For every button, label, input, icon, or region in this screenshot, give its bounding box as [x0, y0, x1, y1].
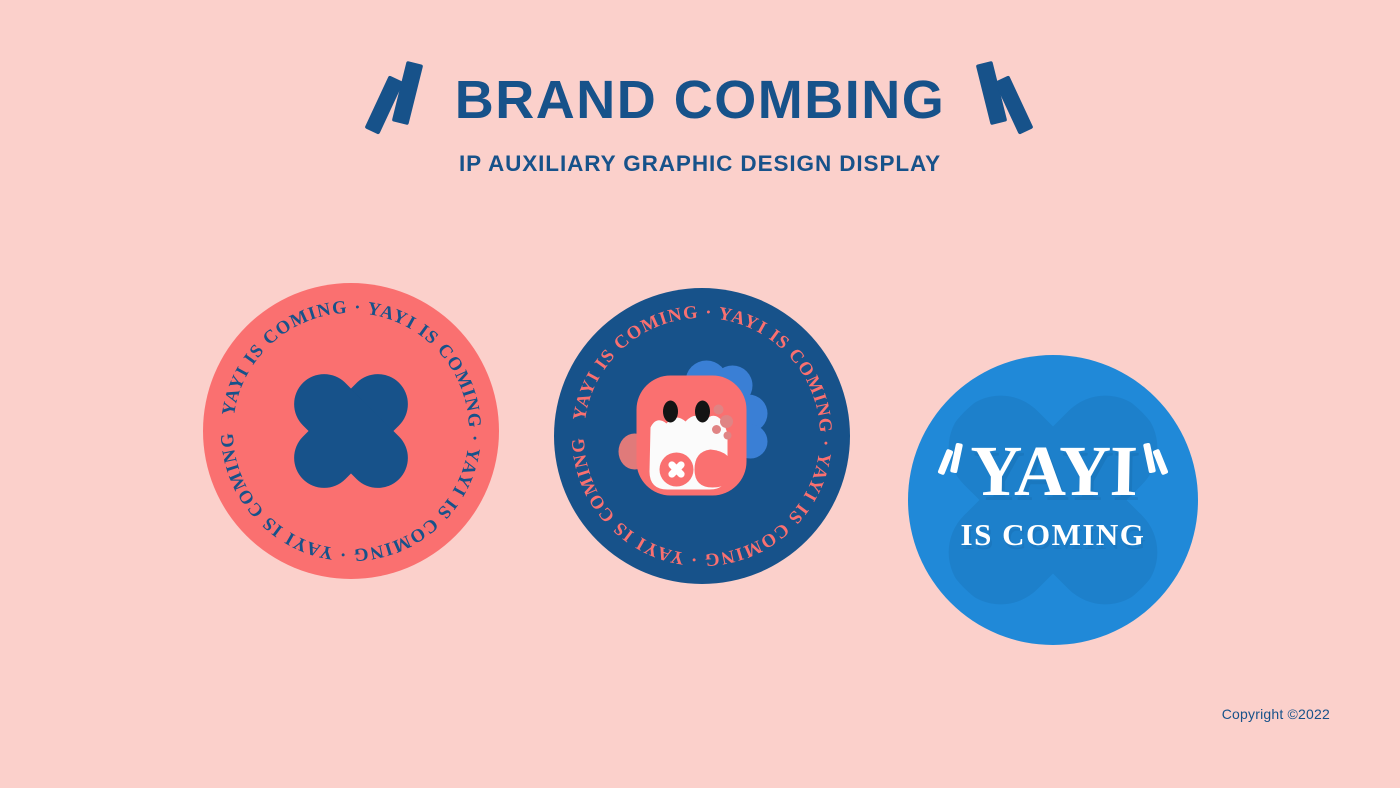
page-subtitle: IP AUXILIARY GRAPHIC DESIGN DISPLAY — [459, 151, 941, 177]
double-slash-icon-left — [371, 58, 439, 142]
quote-right-icon — [1140, 437, 1166, 501]
mascot-eye-right — [695, 401, 710, 423]
wordmark-block: YAYI IS COMING — [908, 355, 1198, 645]
quote-left-icon — [940, 437, 966, 501]
presentation-slide: BRAND COMBING IP AUXILIARY GRAPHIC DESIG… — [0, 0, 1400, 788]
page-title: BRAND COMBING — [455, 73, 945, 127]
headline-row: YAYI — [940, 437, 1167, 505]
badge-navy-mascot: YAYI IS COMING · YAYI IS COMING · YAYI I… — [554, 288, 850, 584]
badge-coral-x: YAYI IS COMING · YAYI IS COMING · YAYI I… — [203, 283, 499, 579]
quote-bar — [950, 442, 963, 473]
slide-header: BRAND COMBING IP AUXILIARY GRAPHIC DESIG… — [0, 58, 1400, 177]
badge-row: YAYI IS COMING · YAYI IS COMING · YAYI I… — [0, 283, 1400, 593]
x-cross-mark-icon — [283, 363, 419, 499]
mascot-eye-left — [663, 401, 678, 423]
copyright-text: Copyright ©2022 — [1222, 706, 1330, 722]
badge-blue-wordmark: YAYI IS COMING — [908, 355, 1198, 645]
wordmark-tagline: IS COMING — [961, 517, 1146, 553]
double-slash-icon-right — [961, 58, 1029, 142]
mascot-x-badge — [660, 453, 694, 487]
wordmark-headline: YAYI — [969, 437, 1137, 505]
yayi-mascot-icon — [615, 354, 790, 519]
title-row: BRAND COMBING — [371, 58, 1029, 142]
